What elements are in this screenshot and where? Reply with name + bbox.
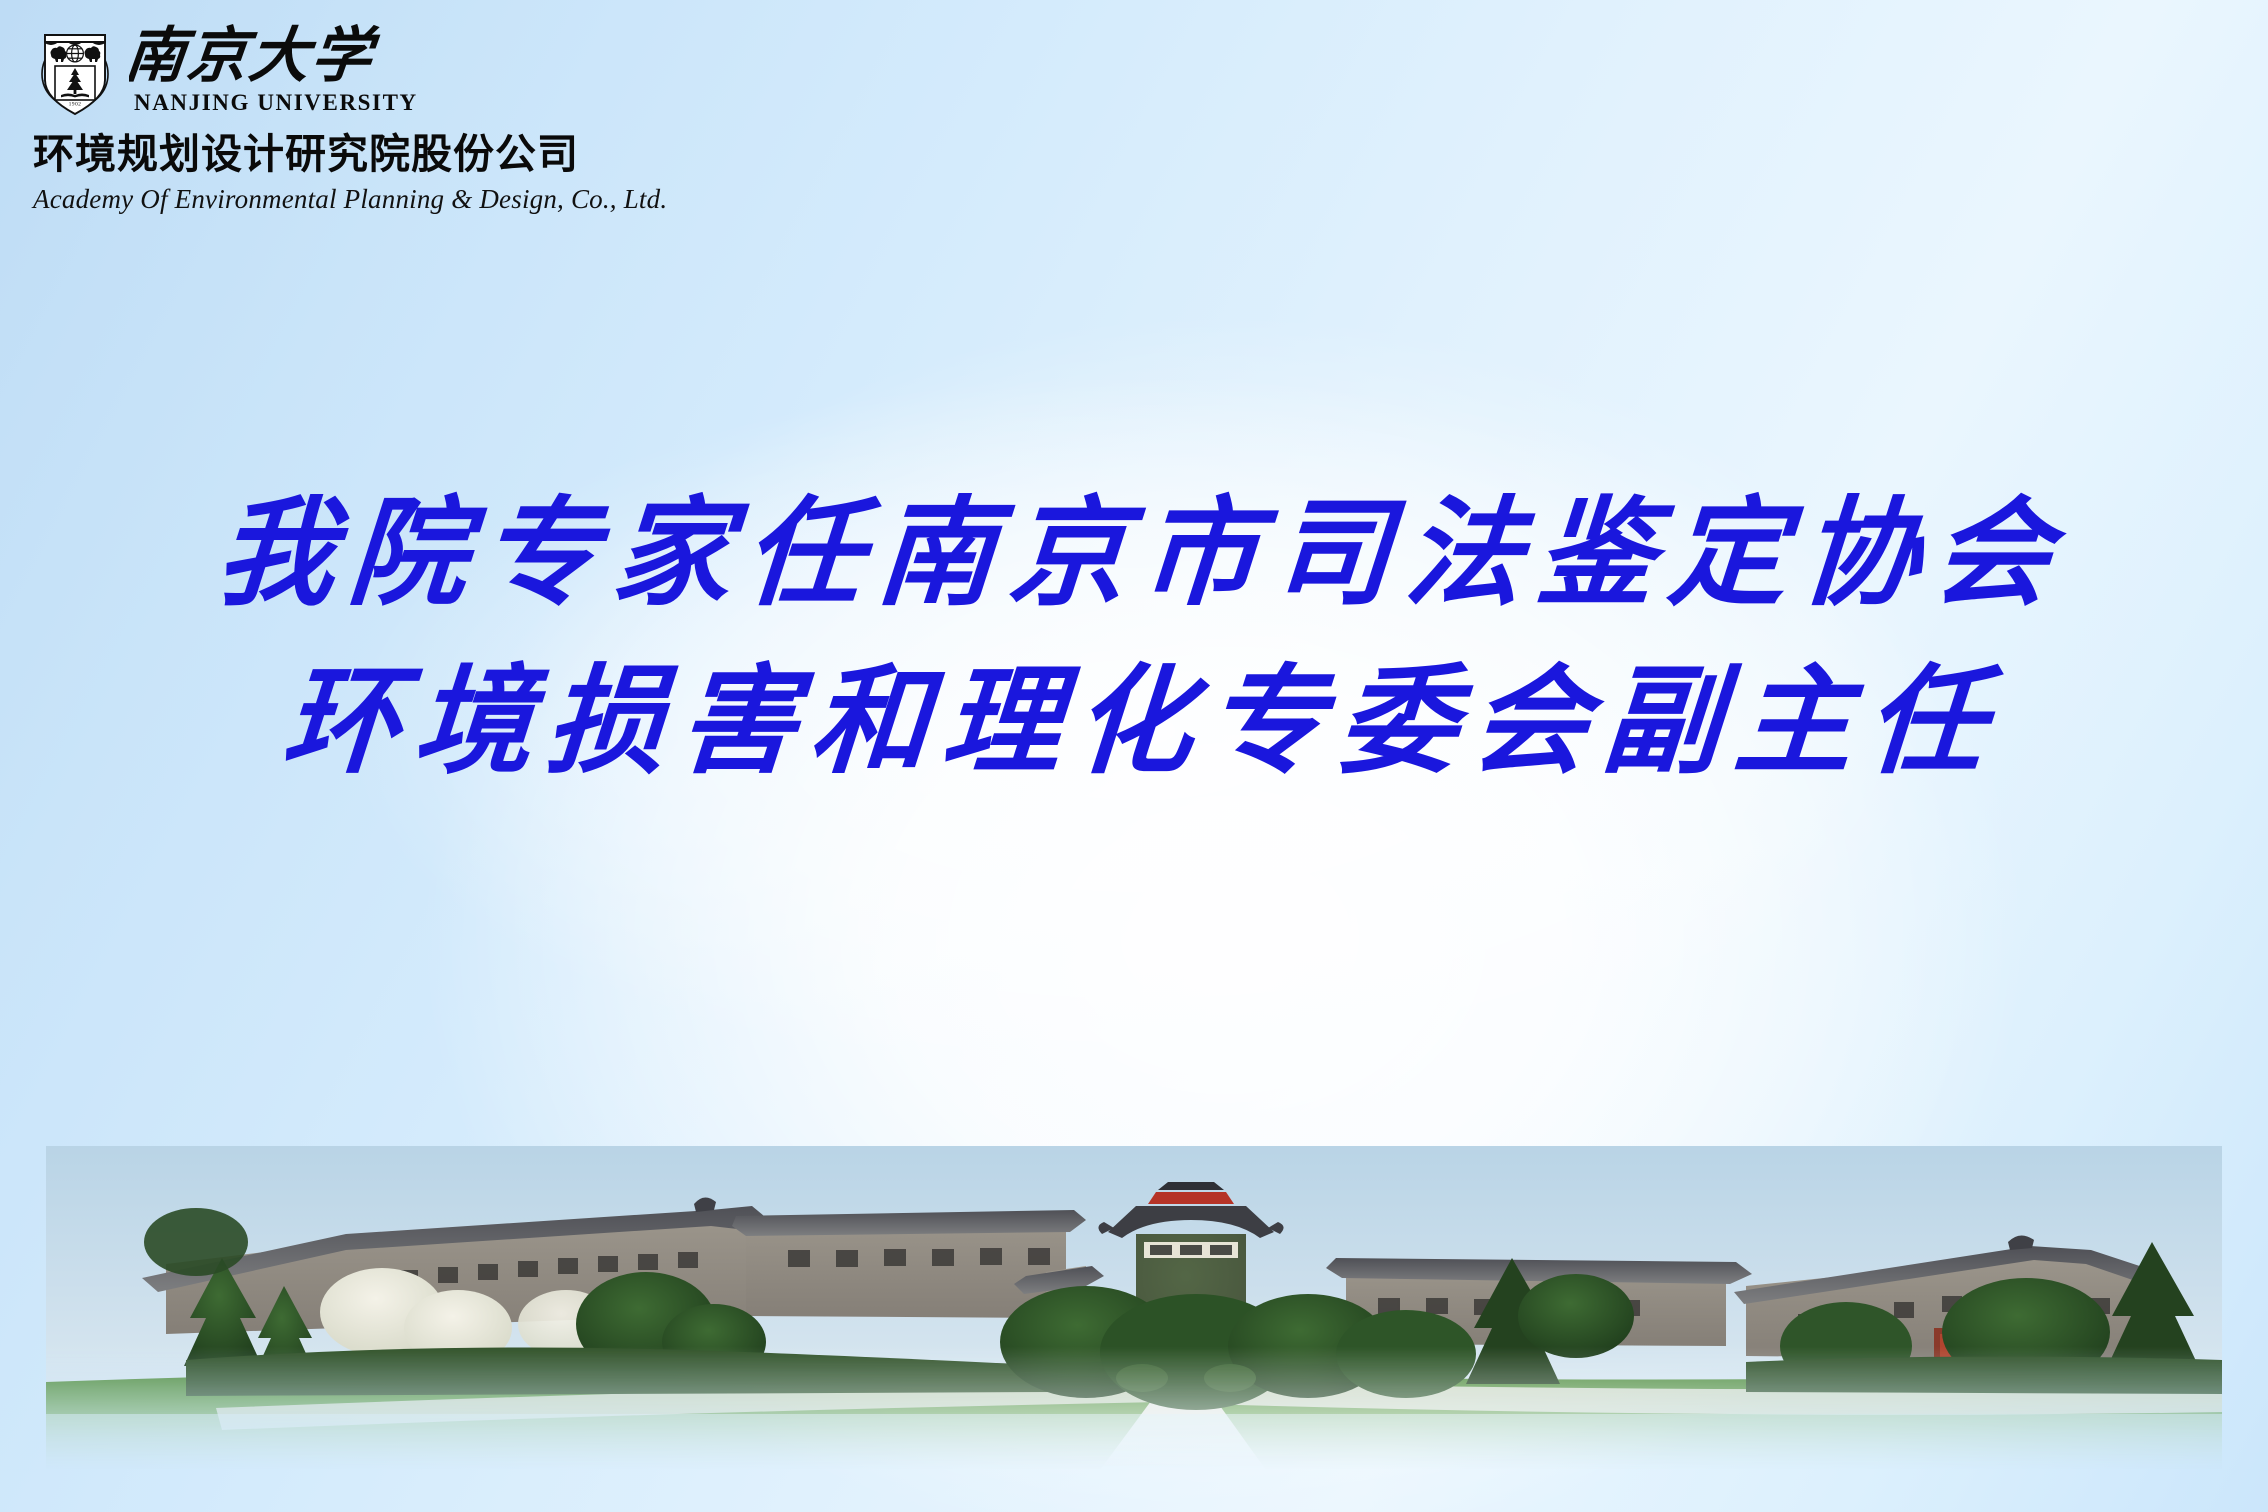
logo-row: NANJING UNIVERSITY: [33, 18, 733, 122]
company-name-cn: 环境规划设计研究院股份公司: [33, 132, 733, 177]
university-wordmark: 南京大学 NANJING UNIVERSITY: [129, 20, 419, 116]
company-name-en: Academy Of Environmental Planning & Desi…: [33, 184, 733, 215]
university-name-cn: 南京大学: [129, 21, 383, 88]
svg-text:1902: 1902: [69, 102, 82, 108]
presentation-slide: NANJING UNIVERSITY: [0, 0, 2268, 1512]
title-line-1: 我院专家任南京市司法鉴定协会: [0, 470, 2268, 638]
university-name-en: NANJING UNIVERSITY: [134, 90, 419, 116]
nanjing-university-crest-icon: NANJING UNIVERSITY: [33, 22, 117, 122]
campus-photo-image: [46, 1146, 2222, 1470]
logo-header: NANJING UNIVERSITY: [33, 18, 733, 215]
title-line-2: 环境损害和理化专委会副主任: [0, 638, 2268, 806]
university-name-cn-calligraphy-icon: 南京大学: [129, 20, 419, 88]
slide-title: 我院专家任南京市司法鉴定协会 环境损害和理化专委会副主任: [0, 470, 2268, 805]
campus-photo: [46, 1146, 2222, 1470]
